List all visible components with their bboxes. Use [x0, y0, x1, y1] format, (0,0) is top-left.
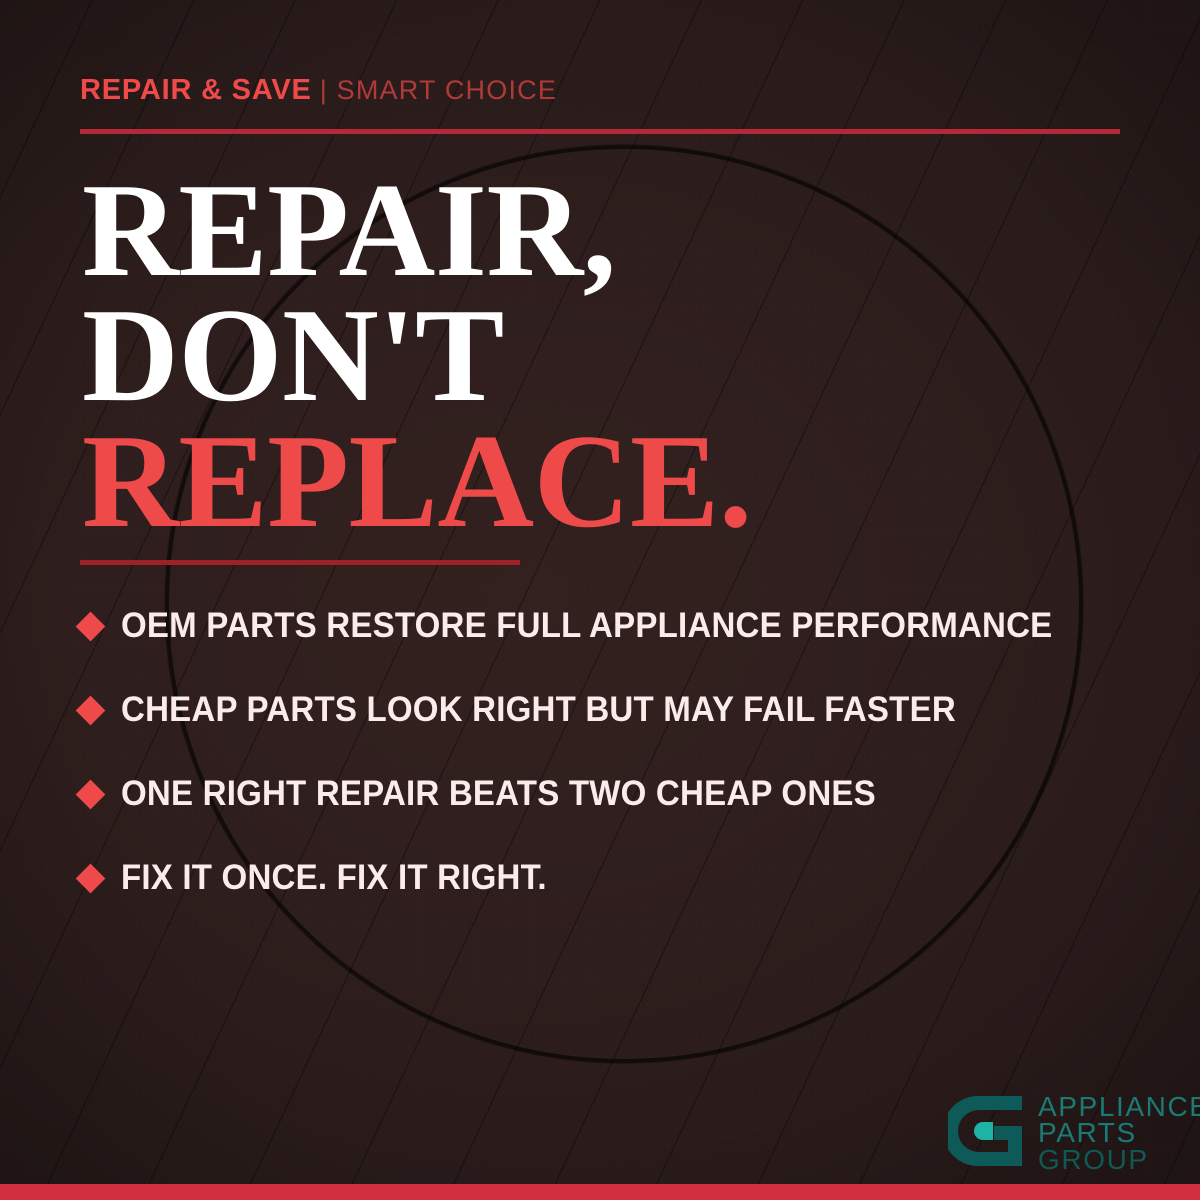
headline-line-2: DON'T	[82, 293, 752, 418]
headline-line-1: REPAIR,	[82, 168, 752, 293]
headline-line-3: REPLACE.	[82, 419, 752, 544]
kicker-sub-label: | SMART CHOICE	[320, 75, 557, 105]
diamond-icon	[76, 863, 106, 893]
bottom-accent-bar	[0, 1184, 1200, 1200]
brand-logo: APPLIANCE PARTS GROUP	[948, 1092, 1200, 1173]
list-item: CHEAP PARTS LOOK RIGHT BUT MAY FAIL FAST…	[80, 670, 1150, 750]
list-item-label: OEM PARTS RESTORE FULL APPLIANCE PERFORM…	[121, 606, 1052, 646]
headline-block: REPAIR, DON'T REPLACE.	[82, 168, 752, 544]
g-monogram-icon	[948, 1092, 1026, 1170]
diamond-icon	[76, 779, 106, 809]
poster-canvas: REPAIR & SAVE| SMART CHOICE REPAIR, DON'…	[0, 0, 1200, 1200]
list-item: OEM PARTS RESTORE FULL APPLIANCE PERFORM…	[80, 586, 1150, 666]
list-item-label: CHEAP PARTS LOOK RIGHT BUT MAY FAIL FAST…	[121, 690, 956, 730]
headline-divider-rule	[80, 560, 520, 565]
brand-word-parts: PARTS	[1038, 1120, 1200, 1146]
list-item-label: ONE RIGHT REPAIR BEATS TWO CHEAP ONES	[121, 774, 876, 814]
brand-wordmark: APPLIANCE PARTS GROUP	[1038, 1092, 1200, 1173]
poster-content: REPAIR & SAVE| SMART CHOICE REPAIR, DON'…	[0, 0, 1200, 1200]
kicker-main-label: REPAIR & SAVE	[80, 74, 312, 106]
brand-word-group: GROUP	[1038, 1147, 1200, 1173]
list-item: ONE RIGHT REPAIR BEATS TWO CHEAP ONES	[80, 754, 1150, 834]
list-item: FIX IT ONCE. FIX IT RIGHT.	[80, 838, 1150, 918]
kicker-eyebrow: REPAIR & SAVE| SMART CHOICE	[80, 74, 557, 107]
benefit-list: OEM PARTS RESTORE FULL APPLIANCE PERFORM…	[80, 586, 1150, 922]
header-divider-rule	[80, 129, 1120, 134]
diamond-icon	[76, 695, 106, 725]
diamond-icon	[76, 611, 106, 641]
list-item-label: FIX IT ONCE. FIX IT RIGHT.	[121, 858, 547, 898]
